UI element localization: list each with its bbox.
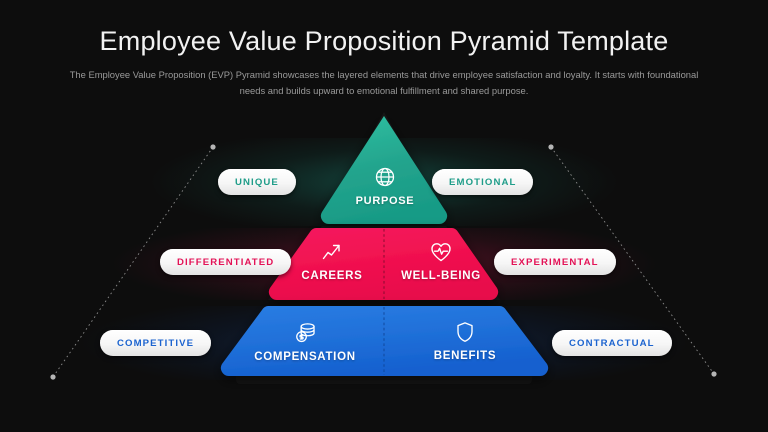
tier-cell-label: PURPOSE xyxy=(356,195,415,207)
page-title: Employee Value Proposition Pyramid Templ… xyxy=(0,26,768,57)
tier-cell-compensation[interactable]: COMPENSATION xyxy=(225,312,385,370)
tier-cell-label: BENEFITS xyxy=(434,350,496,362)
side-label-differentiated[interactable]: DIFFERENTIATED xyxy=(160,249,291,275)
side-label-text: EMOTIONAL xyxy=(449,177,516,188)
side-label-text: COMPETITIVE xyxy=(117,338,194,349)
side-label-competitive[interactable]: COMPETITIVE xyxy=(100,330,211,356)
tier-cell-well-being[interactable]: WELL-BEING xyxy=(378,232,504,290)
globe-icon xyxy=(373,165,397,189)
side-label-contractual[interactable]: CONTRACTUAL xyxy=(552,330,672,356)
slide-canvas: Employee Value Proposition Pyramid Templ… xyxy=(0,0,768,432)
tier-cell-label: COMPENSATION xyxy=(254,351,355,363)
trending-up-arrow-icon xyxy=(320,240,344,264)
page-subtitle: The Employee Value Proposition (EVP) Pyr… xyxy=(59,67,709,99)
tier-cell-label: WELL-BEING xyxy=(401,270,481,282)
tier-cell-benefits[interactable]: BENEFITS xyxy=(390,312,540,370)
money-coins-icon xyxy=(293,320,318,345)
heartbeat-icon xyxy=(429,240,453,264)
side-label-emotional[interactable]: EMOTIONAL xyxy=(432,169,533,195)
side-label-unique[interactable]: UNIQUE xyxy=(218,169,296,195)
tier-cell-label: CAREERS xyxy=(301,270,362,282)
header: Employee Value Proposition Pyramid Templ… xyxy=(0,0,768,99)
side-label-text: DIFFERENTIATED xyxy=(177,257,274,268)
side-label-text: EXPERIMENTAL xyxy=(511,257,599,268)
side-label-text: UNIQUE xyxy=(235,177,279,188)
side-label-experimental[interactable]: EXPERIMENTAL xyxy=(494,249,616,275)
side-label-text: CONTRACTUAL xyxy=(569,338,655,349)
tier-cell-purpose[interactable]: PURPOSE xyxy=(330,158,440,214)
shield-icon xyxy=(453,320,477,344)
